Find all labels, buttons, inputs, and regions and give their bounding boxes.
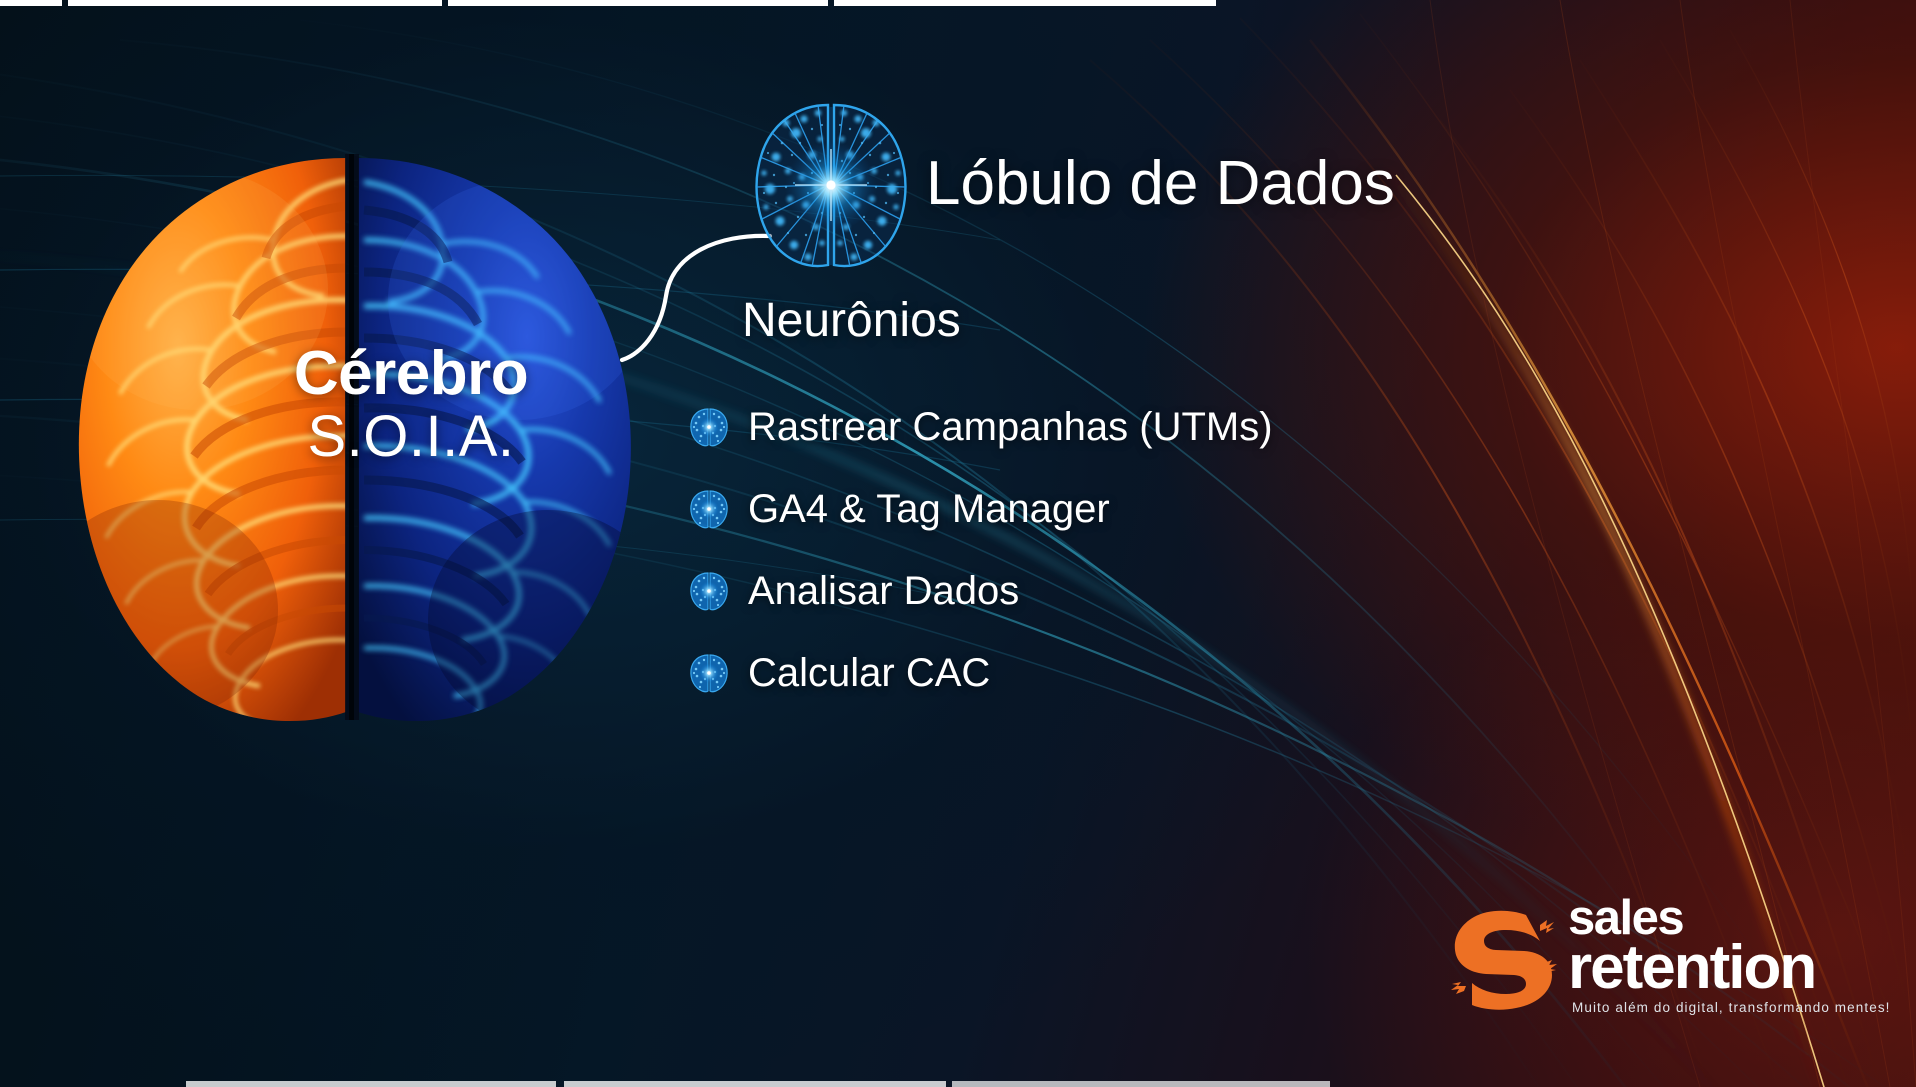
split-brain-illustration (48, 140, 668, 730)
lobe-title: Lóbulo de Dados (926, 148, 1395, 219)
brain-node-icon (688, 570, 730, 612)
bottom-edge-band (0, 1081, 1916, 1087)
list-item-label: Calcular CAC (748, 651, 990, 696)
neurons-list: Rastrear Campanhas (UTMs) GA4 & Tag Mana (688, 386, 1448, 714)
brain-node-icon (688, 406, 730, 448)
digital-brain-icon (742, 95, 920, 273)
list-item-label: Analisar Dados (748, 569, 1019, 614)
list-item[interactable]: GA4 & Tag Manager (688, 468, 1448, 550)
logo-word-retention: retention (1568, 939, 1891, 997)
sales-retention-s-mark (1448, 907, 1564, 1011)
top-edge-band (0, 0, 1916, 6)
list-item[interactable]: Analisar Dados (688, 550, 1448, 632)
list-item-label: GA4 & Tag Manager (748, 487, 1110, 532)
sales-retention-logo[interactable]: sales retention Muito além do digital, t… (1448, 895, 1888, 1035)
list-item-label: Rastrear Campanhas (UTMs) (748, 405, 1273, 450)
list-item[interactable]: Calcular CAC (688, 632, 1448, 714)
brain-node-icon (688, 652, 730, 694)
logo-wordmark: sales retention Muito além do digital, t… (1568, 895, 1891, 1015)
brain-node-icon (688, 488, 730, 530)
list-item[interactable]: Rastrear Campanhas (UTMs) (688, 386, 1448, 468)
neurons-heading: Neurônios (742, 293, 961, 348)
slide-canvas: Cérebro S.O.I.A. (0, 0, 1916, 1087)
logo-tagline: Muito além do digital, transformando men… (1572, 1000, 1891, 1015)
